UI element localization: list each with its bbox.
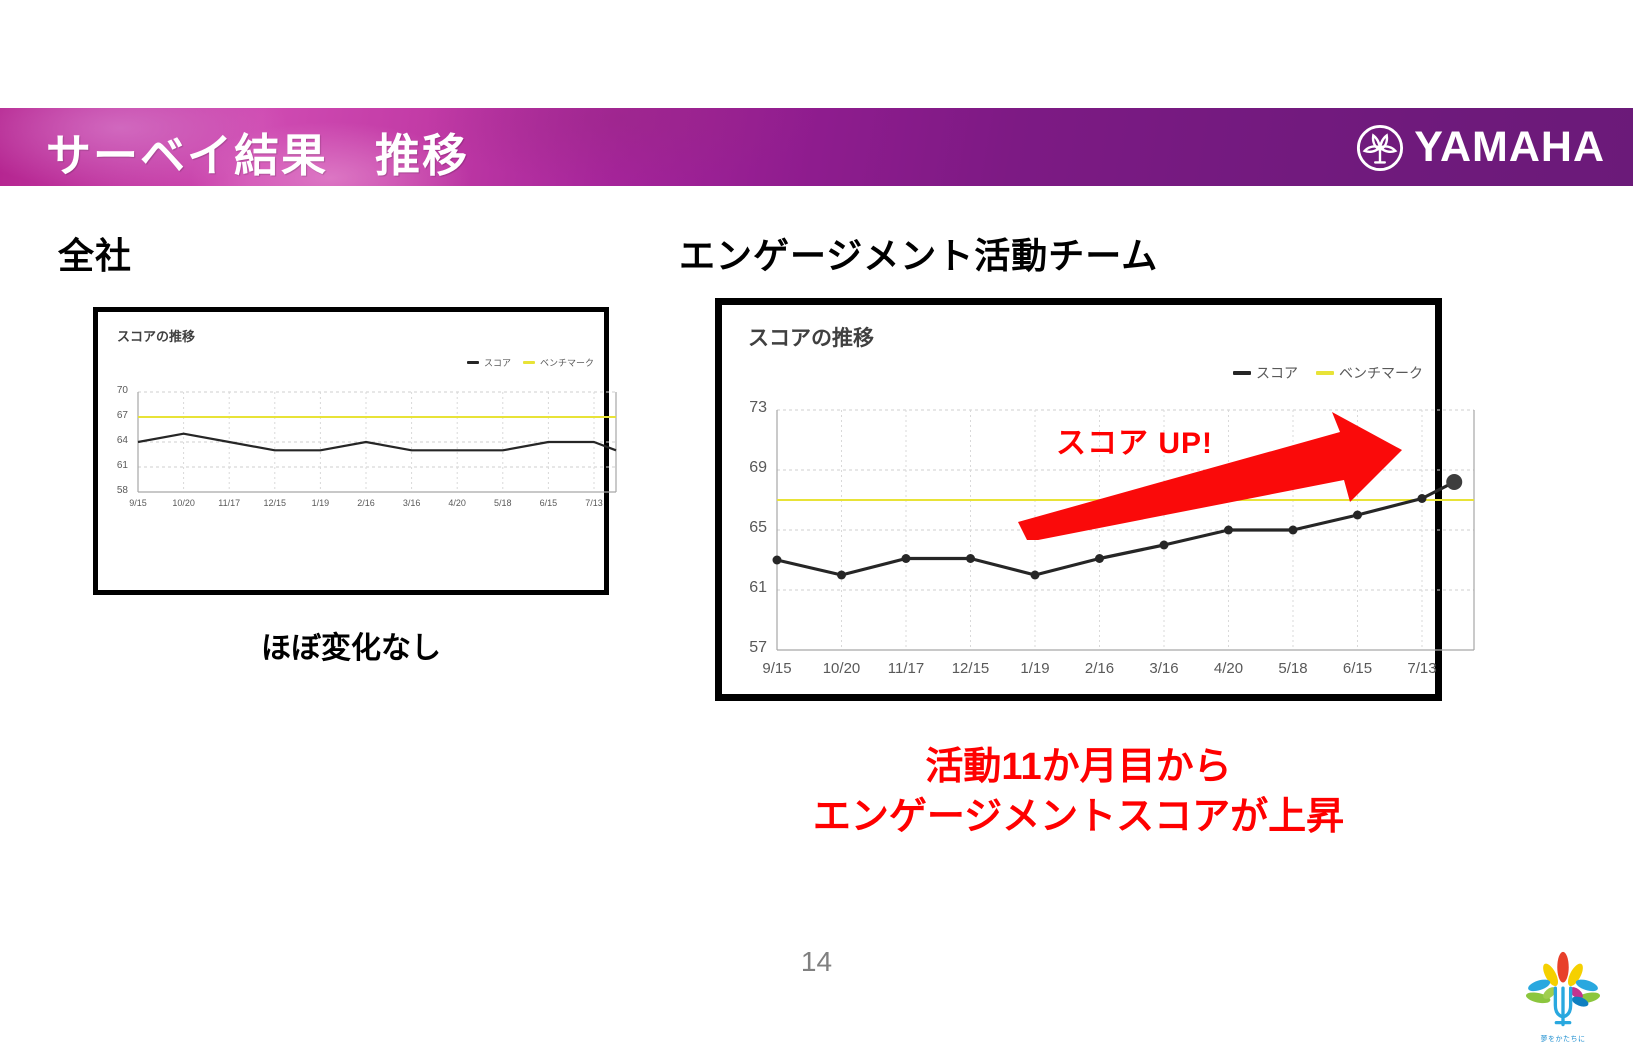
- right-caption-line-2: エンゲージメントスコアが上昇: [715, 792, 1442, 842]
- right-caption-line-1: 活動11か月目から: [715, 742, 1442, 792]
- y-axis-tick: 73: [749, 399, 767, 417]
- y-axis-tick: 64: [117, 435, 128, 446]
- legend-label-benchmark: ベンチマーク: [540, 356, 594, 369]
- x-axis-tick: 7/13: [564, 498, 624, 508]
- y-axis-tick: 69: [749, 459, 767, 477]
- y-axis-tick: 70: [117, 385, 128, 396]
- legend-swatch-score-icon: [1233, 371, 1251, 375]
- x-axis-tick: 3/16: [1134, 660, 1194, 677]
- legend-item-benchmark: ベンチマーク: [523, 356, 594, 369]
- legend-swatch-benchmark-icon: [523, 361, 535, 364]
- y-axis-tick: 65: [749, 519, 767, 537]
- plot-area-left: 58616467709/1510/2011/1712/151/192/163/1…: [138, 392, 594, 492]
- y-axis-tick: 61: [749, 579, 767, 597]
- yamaha-logo: YAMAHA: [1356, 123, 1605, 172]
- left-panel-heading: 全社: [58, 227, 132, 279]
- legend-label-score: スコア: [484, 356, 511, 369]
- chart-title-right: スコアの推移: [748, 322, 874, 352]
- footer-logo-caption: 夢をかたちに: [1515, 1034, 1611, 1044]
- x-axis-tick: 10/20: [812, 660, 872, 677]
- x-axis-tick: 6/15: [1328, 660, 1388, 677]
- x-axis-tick: 2/16: [1070, 660, 1130, 677]
- x-axis-tick: 9/15: [747, 660, 807, 677]
- y-axis-tick: 57: [749, 639, 767, 657]
- legend-swatch-score-icon: [467, 361, 479, 364]
- yamaha-wordmark: YAMAHA: [1414, 123, 1605, 172]
- legend-label-benchmark: ベンチマーク: [1339, 363, 1423, 383]
- y-axis-tick: 67: [117, 410, 128, 421]
- yamaha-tuning-fork-icon: [1356, 124, 1404, 172]
- chart-card-engagement: スコアの推移 スコア ベンチマーク 57616569739/1510/2011/…: [715, 298, 1442, 701]
- yume-wo-katachi-ni-logo-icon: [1515, 950, 1611, 1036]
- x-axis-tick: 12/15: [941, 660, 1001, 677]
- x-axis-tick: 11/17: [876, 660, 936, 677]
- left-panel-caption: ほぼ変化なし: [93, 623, 609, 667]
- chart-card-zensha: スコアの推移 スコア ベンチマーク 58616467709/1510/2011/…: [93, 307, 609, 595]
- legend-swatch-benchmark-icon: [1316, 371, 1334, 375]
- y-axis-tick: 61: [117, 460, 128, 471]
- page-title: サーベイ結果 推移: [46, 119, 469, 184]
- legend-item-score: スコア: [467, 356, 511, 369]
- x-axis-tick: 5/18: [1263, 660, 1323, 677]
- chart-legend-right: スコア ベンチマーク: [1233, 363, 1423, 383]
- x-axis-tick: 4/20: [1199, 660, 1259, 677]
- right-panel-heading: エンゲージメント活動チーム: [679, 227, 1158, 279]
- chart-legend-left: スコア ベンチマーク: [467, 356, 594, 369]
- chart-title-left: スコアの推移: [117, 326, 195, 345]
- right-panel-caption: 活動11か月目から エンゲージメントスコアが上昇: [715, 742, 1442, 842]
- x-axis-tick: 1/19: [1005, 660, 1065, 677]
- score-up-annotation: スコア UP!: [1056, 418, 1213, 462]
- y-axis-tick: 58: [117, 485, 128, 496]
- legend-item-score: スコア: [1233, 363, 1298, 383]
- legend-label-score: スコア: [1256, 363, 1298, 383]
- page-number: 14: [0, 946, 1633, 978]
- legend-item-benchmark: ベンチマーク: [1316, 363, 1423, 383]
- x-axis-tick: 7/13: [1392, 660, 1452, 677]
